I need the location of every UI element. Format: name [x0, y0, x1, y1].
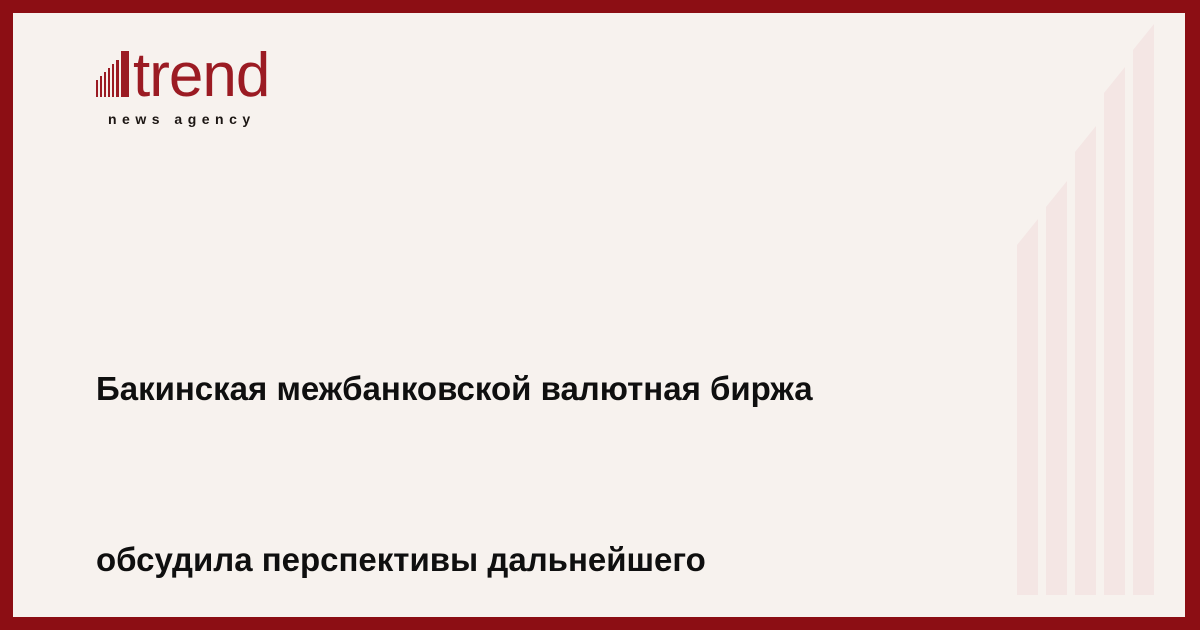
watermark-bar	[1075, 152, 1096, 595]
card-content-area: trend news agency Бакинская межбанковско…	[13, 13, 1185, 617]
watermark-bar	[1046, 207, 1067, 595]
logo-bar	[108, 68, 110, 97]
watermark-bar	[1017, 245, 1038, 595]
watermark-bar-top	[1133, 24, 1154, 50]
headline-line: обсудила перспективы дальнейшего	[96, 531, 976, 588]
watermark-bar-top	[1104, 67, 1125, 93]
watermark-bar-top	[1075, 126, 1096, 152]
trend-logo[interactable]: trend news agency	[96, 43, 396, 105]
logo-tagline: news agency	[108, 111, 256, 127]
watermark-bar	[1104, 93, 1125, 595]
logo-wordmark: trend	[133, 45, 269, 107]
logo-bar	[116, 60, 119, 97]
news-share-card: trend news agency Бакинская межбанковско…	[0, 0, 1200, 630]
logo-bar	[112, 64, 114, 97]
watermark-bar-top	[1017, 219, 1038, 245]
logo-bar	[100, 76, 102, 97]
logo-bar	[104, 72, 106, 97]
headline-line: Бакинская межбанковской валютная биржа	[96, 360, 976, 417]
page-title: Бакинская межбанковской валютная биржа о…	[96, 246, 976, 617]
logo-bar	[96, 80, 98, 97]
ascending-bars-watermark	[1011, 13, 1171, 595]
logo-bar	[121, 51, 129, 97]
logo-wordmark-row: trend	[96, 43, 396, 105]
watermark-bar	[1133, 50, 1154, 595]
watermark-bar-top	[1046, 181, 1067, 207]
